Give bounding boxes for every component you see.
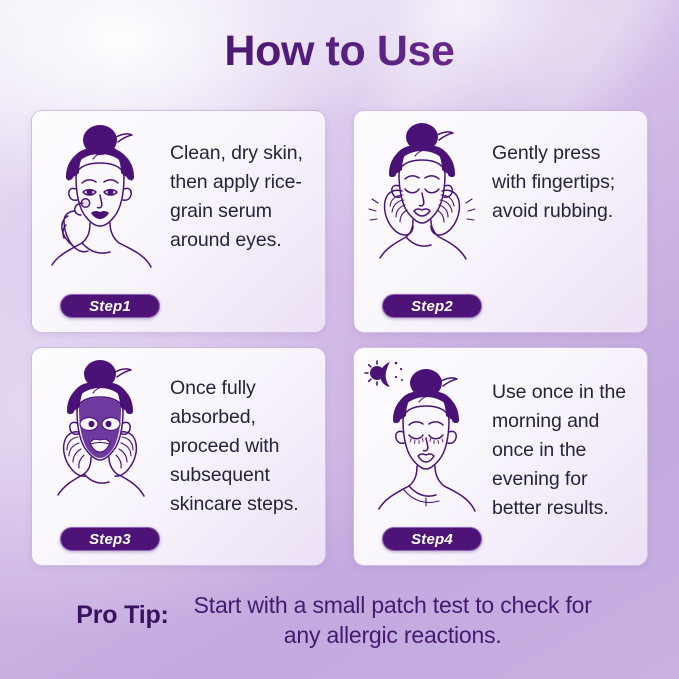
- how-to-use-infographic: How to Use: [0, 0, 679, 679]
- pro-tip-label: Pro Tip:: [76, 590, 168, 630]
- pro-tip: Pro Tip: Start with a small patch test t…: [0, 590, 679, 650]
- step-card-2: Gently press with fingertips; avoid rubb…: [353, 110, 648, 333]
- step-3-badge: Step3: [60, 527, 160, 551]
- step-1-badge: Step1: [60, 294, 160, 318]
- step-card-1: Clean, dry skin, then apply rice-grain s…: [31, 110, 326, 333]
- step-4-badge: Step4: [382, 527, 482, 551]
- step-4-text: Use once in the morning and once in the …: [488, 348, 647, 565]
- step-3-text: Once fully absorbed, proceed with subseq…: [166, 348, 325, 565]
- woman-day-and-night-icon: [360, 356, 484, 532]
- woman-applying-serum-icon: [38, 119, 162, 299]
- sun-and-moon-icon: [365, 361, 403, 387]
- step-card-3: Once fully absorbed, proceed with subseq…: [31, 347, 326, 566]
- step-2-text: Gently press with fingertips; avoid rubb…: [488, 111, 647, 332]
- steps-grid: Clean, dry skin, then apply rice-grain s…: [31, 110, 648, 566]
- step-card-4: Use once in the morning and once in the …: [353, 347, 648, 566]
- woman-with-face-mask-icon: [38, 356, 162, 532]
- step-2-badge: Step2: [382, 294, 482, 318]
- pro-tip-text: Start with a small patch test to check f…: [183, 590, 603, 650]
- page-title: How to Use: [0, 27, 679, 76]
- woman-pressing-fingertips-icon: [360, 119, 484, 299]
- step-1-text: Clean, dry skin, then apply rice-grain s…: [166, 111, 325, 332]
